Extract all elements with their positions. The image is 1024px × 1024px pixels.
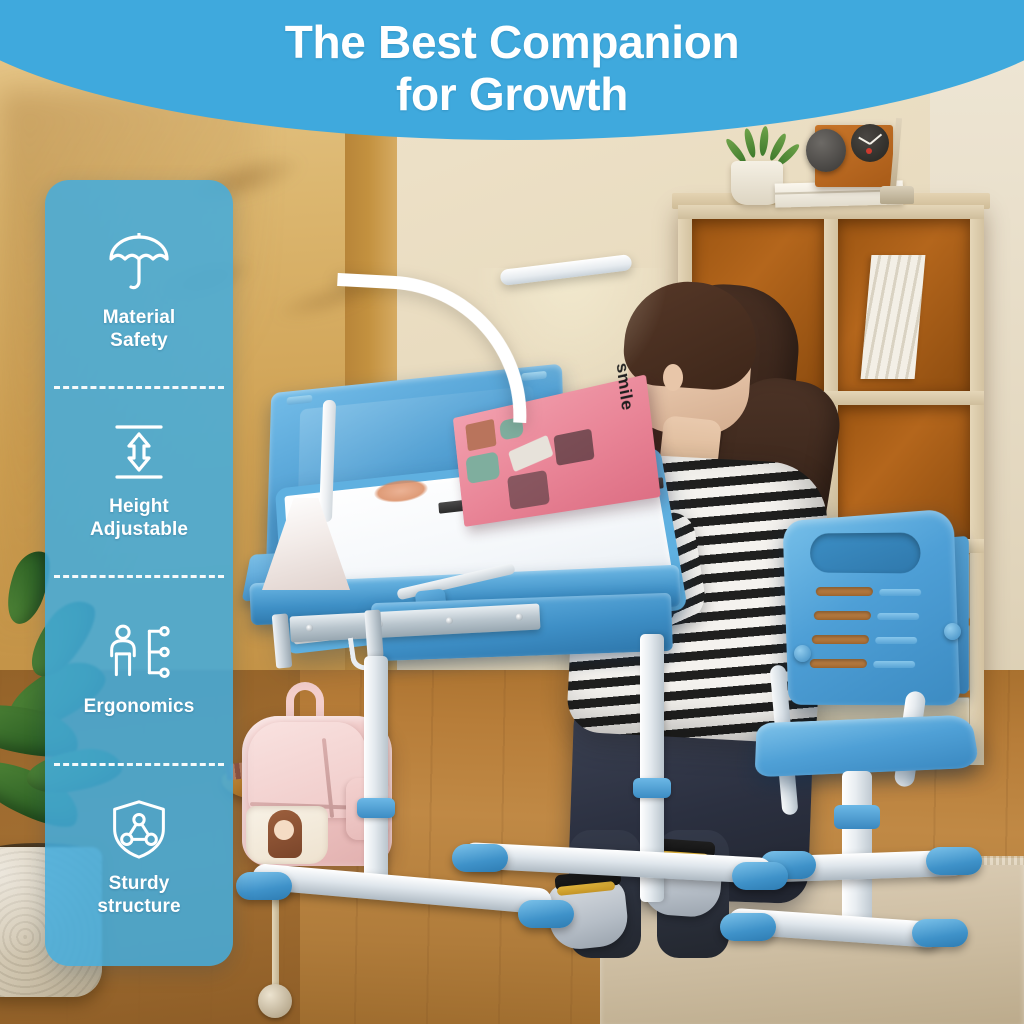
umbrella-icon xyxy=(106,233,172,293)
chair-foot-cap-2 xyxy=(912,919,968,947)
feature-height-adjustable: Height Adjustable xyxy=(55,391,223,573)
feature-label: Sturdy structure xyxy=(97,873,180,919)
chair-height-post xyxy=(842,771,872,931)
book-title: smile xyxy=(612,361,638,413)
feature-divider-2 xyxy=(54,575,224,578)
clock-center-dot xyxy=(866,148,872,154)
chair-slot-3 xyxy=(812,635,869,644)
backboard-clip-left xyxy=(287,395,313,405)
bookshelf-shelf-1 xyxy=(678,205,984,219)
chair-rib-4 xyxy=(873,661,915,668)
desk-foot-right xyxy=(462,842,773,884)
chair-rib-1 xyxy=(879,589,921,596)
feature-panel: Material Safety Height Adjustable xyxy=(45,180,233,966)
chair-handle-cutout[interactable] xyxy=(810,533,920,574)
chair-foot-cap-4 xyxy=(926,847,982,875)
feature-label: Material Safety xyxy=(103,307,176,353)
chair-seat xyxy=(755,715,981,778)
side-table-wheel xyxy=(258,984,292,1018)
feature-divider-1 xyxy=(54,386,224,389)
feature-sturdy-structure: Sturdy structure xyxy=(55,768,223,950)
product-banner-image: smile xyxy=(0,0,1024,1024)
chair-rib-3 xyxy=(875,637,917,644)
chair-rib-2 xyxy=(877,613,919,620)
ergonomics-icon xyxy=(106,622,172,682)
feature-material-safety: Material Safety xyxy=(55,202,223,384)
chair-knob-right[interactable] xyxy=(944,623,961,640)
feature-divider-3 xyxy=(54,763,224,766)
chair-slot-1 xyxy=(816,587,873,596)
kids-study-chair xyxy=(760,515,1024,1015)
feature-ergonomics: Ergonomics xyxy=(55,580,223,762)
desk-foot-cap-3 xyxy=(452,844,508,872)
desk-leg-collar-right[interactable] xyxy=(633,778,671,798)
desk-foot-left xyxy=(251,863,552,915)
height-arrow-icon xyxy=(106,422,172,482)
feature-label: Height Adjustable xyxy=(90,496,188,542)
chair-slot-4 xyxy=(810,659,867,668)
feature-label: Ergonomics xyxy=(84,696,195,719)
clock-icon xyxy=(851,124,889,162)
speaker-icon xyxy=(806,129,846,172)
desk-leg-collar-left[interactable] xyxy=(357,798,395,818)
desk-foot-cap-4 xyxy=(732,862,788,890)
desk-foot-cap-1 xyxy=(236,872,292,900)
desk-leg-left xyxy=(364,656,388,888)
shield-structure-icon xyxy=(106,799,172,859)
desk-foot-cap-2 xyxy=(518,900,574,928)
chair-slot-2 xyxy=(814,611,871,620)
chair-height-collar[interactable] xyxy=(834,805,880,829)
backboard-clip-right xyxy=(521,371,546,381)
shelf-lamp-base xyxy=(880,186,914,204)
chair-knob-left[interactable] xyxy=(794,645,811,662)
